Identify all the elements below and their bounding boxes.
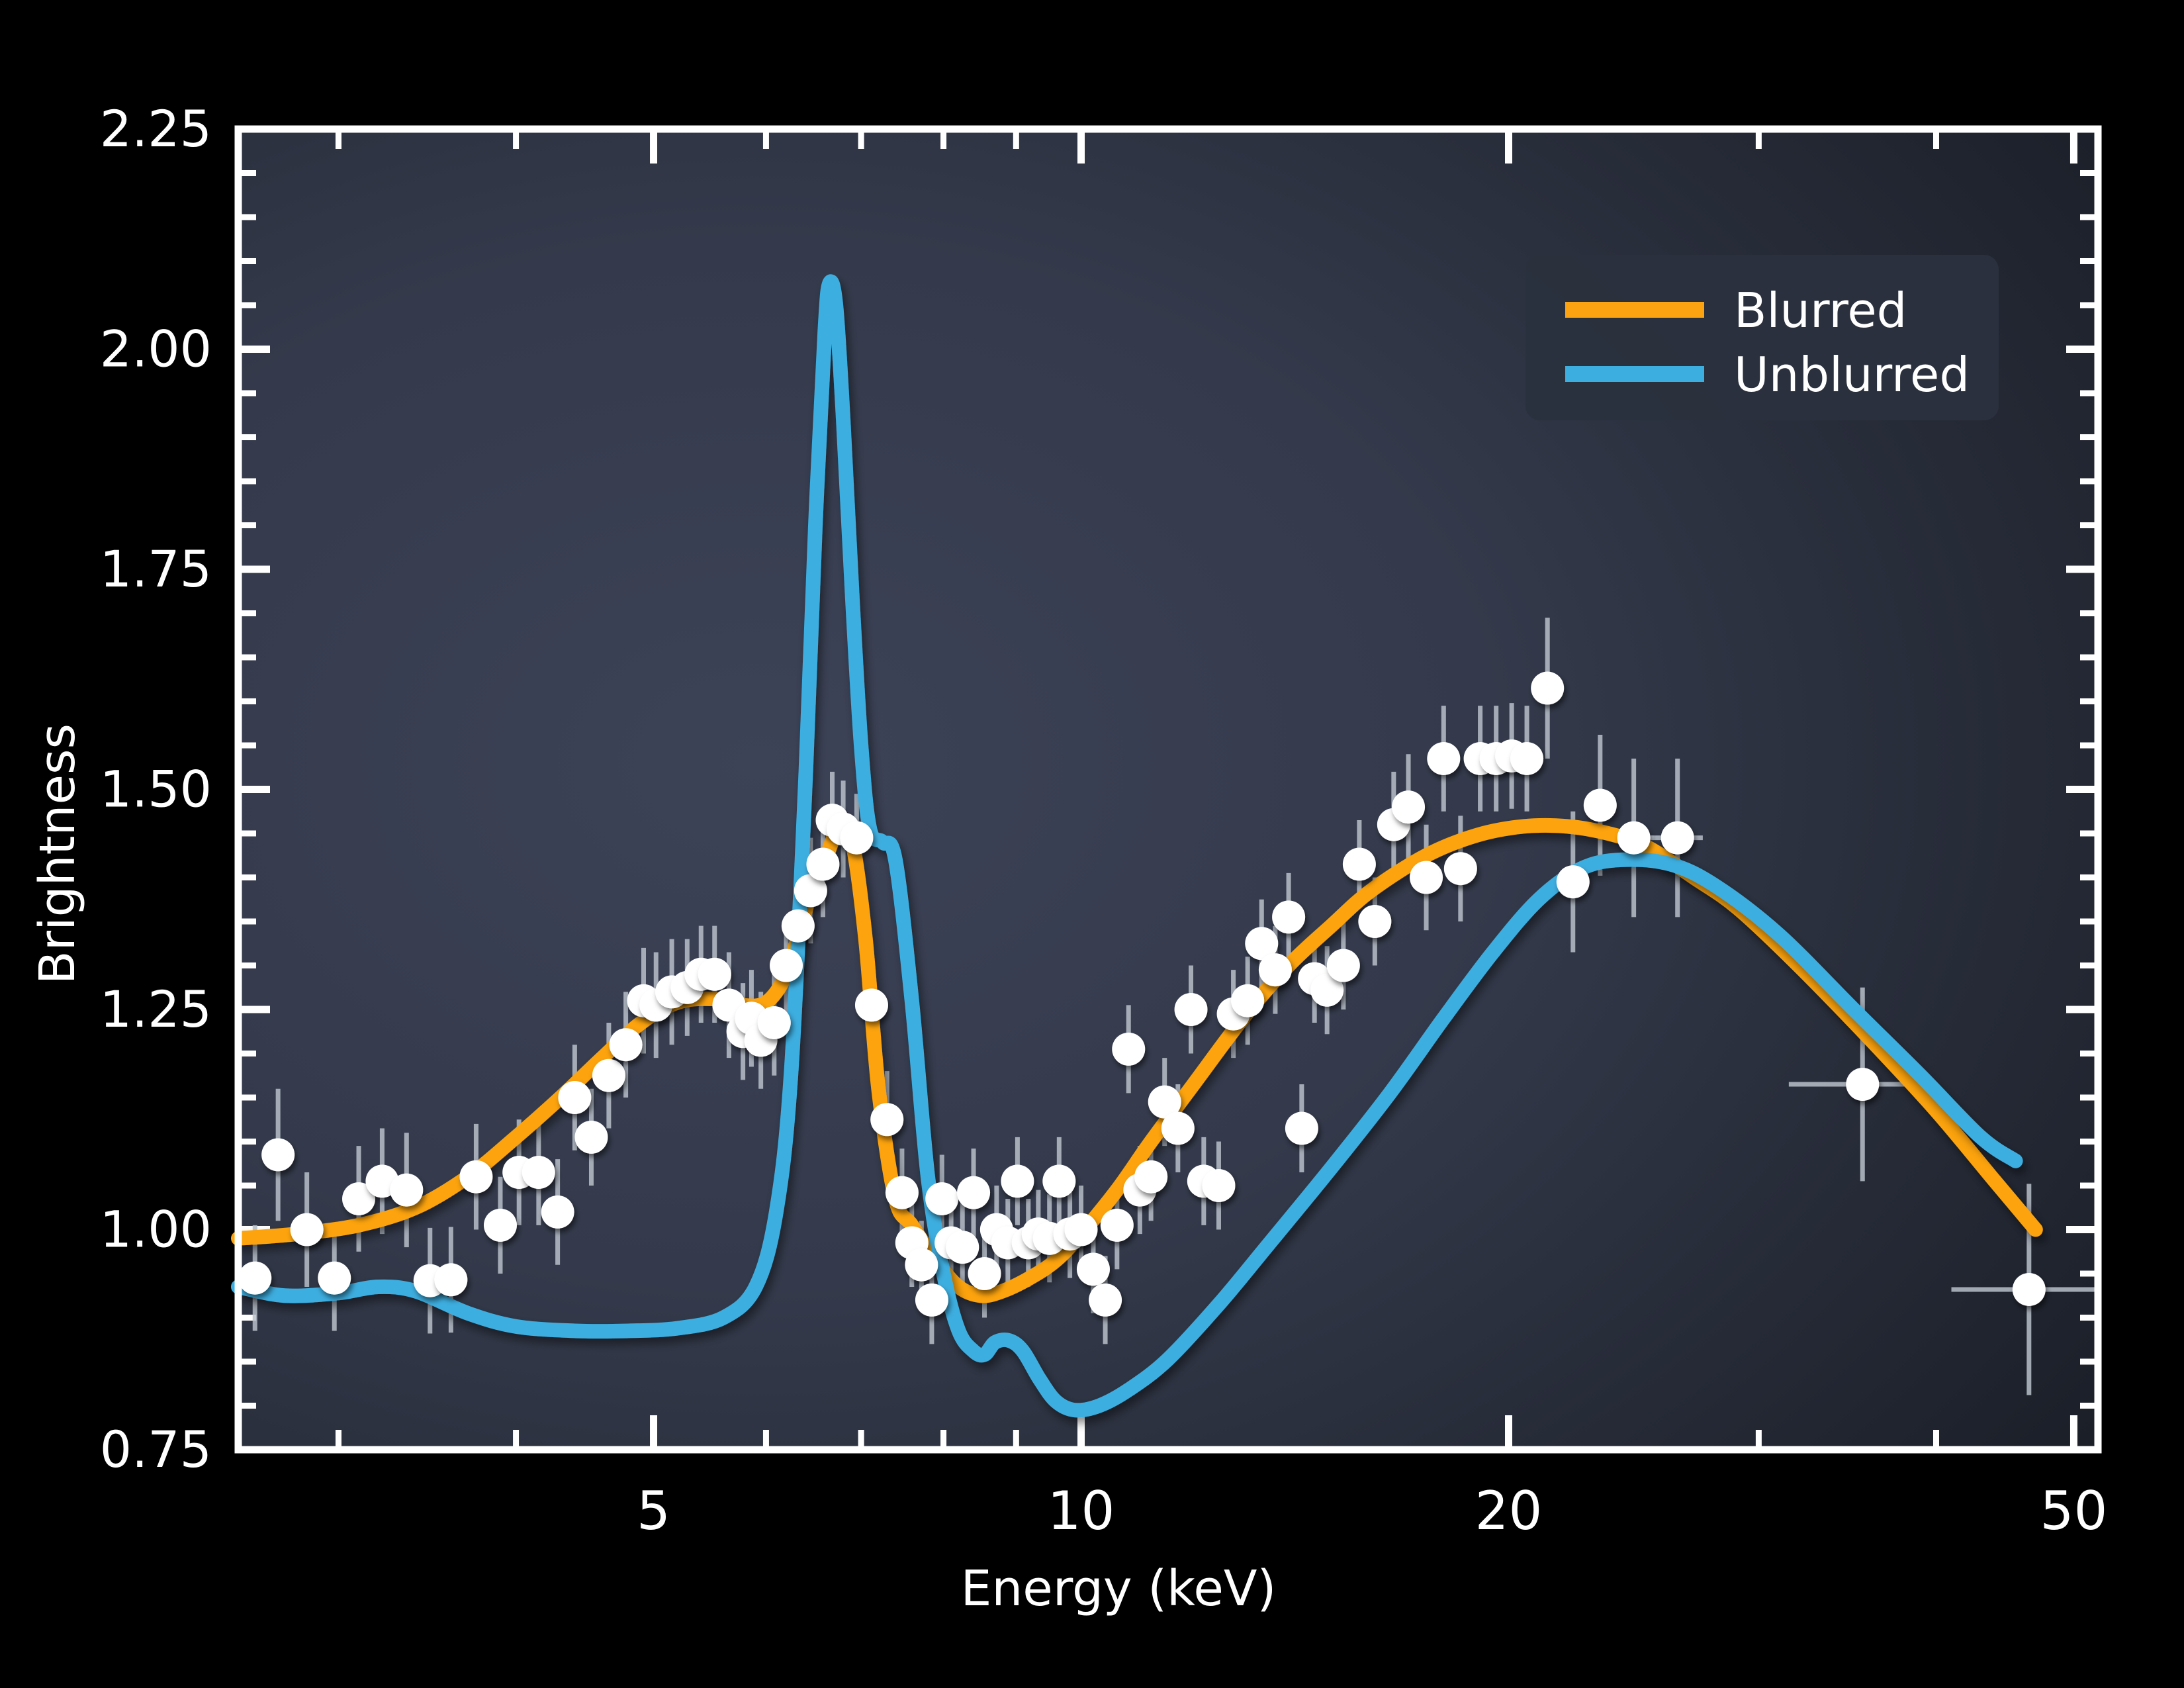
data-point xyxy=(925,1182,958,1215)
data-point xyxy=(1557,865,1590,898)
data-point xyxy=(1427,742,1460,775)
data-point xyxy=(390,1174,423,1207)
data-point xyxy=(610,1028,643,1061)
y-tick-label: 1.00 xyxy=(100,1200,212,1259)
x-tick-label: 50 xyxy=(2040,1480,2108,1542)
data-point xyxy=(592,1059,625,1092)
data-point xyxy=(782,910,815,943)
data-point xyxy=(957,1176,990,1209)
data-point xyxy=(574,1121,608,1154)
data-point xyxy=(541,1196,574,1229)
data-point xyxy=(886,1176,919,1209)
figure-root: 0.751.001.251.501.752.002.25 5102050 Ene… xyxy=(0,0,2184,1688)
spectrum-chart: 0.751.001.251.501.752.002.25 5102050 Ene… xyxy=(0,0,2184,1688)
data-point xyxy=(558,1081,591,1114)
data-point xyxy=(1134,1160,1167,1194)
y-tick-label: 2.25 xyxy=(100,99,212,158)
data-point xyxy=(770,949,803,982)
data-point xyxy=(1042,1164,1075,1197)
y-axis-label: Brightness xyxy=(29,724,86,984)
data-point xyxy=(1161,1112,1195,1145)
data-point xyxy=(1089,1284,1122,1317)
data-point xyxy=(1531,672,1564,705)
data-point xyxy=(261,1138,295,1171)
data-point xyxy=(238,1262,271,1295)
data-point xyxy=(1112,1033,1145,1066)
data-point xyxy=(1510,742,1543,775)
data-point xyxy=(1343,848,1376,881)
data-point xyxy=(698,958,731,991)
data-point xyxy=(1410,861,1443,894)
data-point xyxy=(758,1006,791,1039)
data-point xyxy=(968,1257,1001,1290)
data-point xyxy=(870,1103,903,1136)
data-point xyxy=(1584,788,1617,821)
data-point xyxy=(318,1262,351,1295)
data-point xyxy=(1285,1112,1318,1145)
legend-label-unblurred[interactable]: Unblurred xyxy=(1734,347,1970,402)
y-tick-label: 1.25 xyxy=(100,980,212,1039)
chart-legend[interactable]: Blurred Unblurred xyxy=(1525,255,1999,420)
data-point xyxy=(459,1160,492,1194)
data-point xyxy=(915,1284,948,1317)
x-tick-label: 20 xyxy=(1475,1480,1543,1542)
data-point xyxy=(1259,953,1292,986)
data-point xyxy=(522,1156,555,1189)
x-tick-label: 5 xyxy=(637,1480,670,1542)
y-tick-label: 1.50 xyxy=(100,760,212,819)
data-point xyxy=(1358,905,1391,938)
data-point xyxy=(1001,1164,1034,1197)
data-point xyxy=(1444,852,1477,885)
y-tick-label: 0.75 xyxy=(100,1420,212,1479)
data-point xyxy=(1327,949,1360,982)
data-point xyxy=(855,988,888,1021)
data-point xyxy=(946,1231,979,1264)
x-axis-label: Energy (keV) xyxy=(961,1560,1277,1617)
data-point xyxy=(905,1248,938,1282)
data-point xyxy=(1202,1169,1235,1202)
data-point xyxy=(2013,1273,2046,1306)
x-tick-label: 10 xyxy=(1048,1480,1115,1542)
data-point xyxy=(1392,790,1425,823)
data-point xyxy=(1846,1068,1879,1101)
y-tick-label: 1.75 xyxy=(100,539,212,598)
legend-label-blurred[interactable]: Blurred xyxy=(1734,283,1907,338)
data-point xyxy=(484,1209,517,1242)
data-point xyxy=(1272,900,1305,933)
y-tick-label: 2.00 xyxy=(100,320,212,379)
data-point xyxy=(1101,1209,1134,1242)
data-point xyxy=(1231,984,1264,1017)
data-point xyxy=(806,848,839,881)
data-point xyxy=(840,821,873,855)
data-point xyxy=(434,1263,467,1296)
data-point xyxy=(1175,993,1208,1026)
data-point xyxy=(1077,1252,1110,1286)
data-point xyxy=(1617,821,1651,855)
data-point xyxy=(1661,821,1694,855)
data-point xyxy=(291,1213,324,1246)
data-point xyxy=(1065,1213,1098,1246)
